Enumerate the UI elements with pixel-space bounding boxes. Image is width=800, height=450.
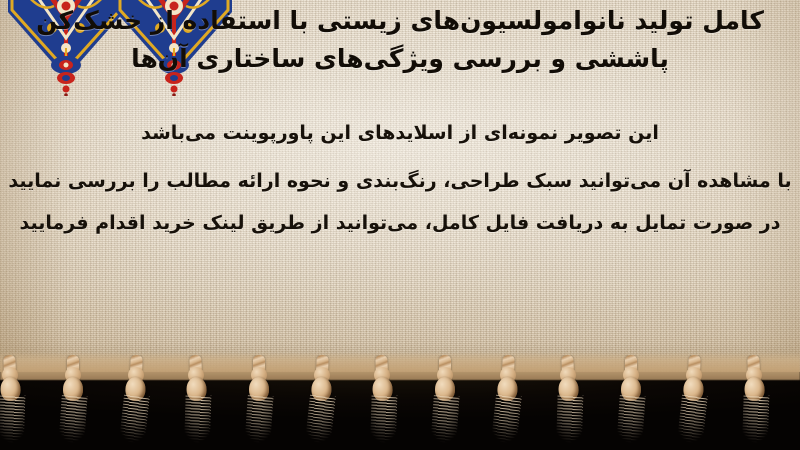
title-line-2: پاششی و بررسی ویژگی‌های ساختاری آن‌ها <box>0 40 800 78</box>
fringe-tassel <box>674 355 712 448</box>
fringe-tassel <box>242 355 276 447</box>
fringe-tassel <box>116 355 154 448</box>
tassel-strands <box>244 394 273 446</box>
slide-text-layer: کامل تولید نانوامولسیون‌های زیستی با است… <box>0 0 800 380</box>
tassel-strands <box>616 394 645 446</box>
title-line-1: کامل تولید نانوامولسیون‌های زیستی با است… <box>0 2 800 40</box>
tassel-strands <box>119 394 150 447</box>
fringe-tassel <box>56 355 90 447</box>
tassel-strands <box>0 395 26 446</box>
tassel-strands <box>184 395 212 446</box>
body-line-1: این تصویر نمونه‌ای از اسلایدهای این پاور… <box>0 112 800 154</box>
body-line-3: در صورت تمایل به دریافت فایل کامل، می‌تو… <box>0 202 800 244</box>
tassel-strands <box>430 394 459 446</box>
tassel-strands <box>742 395 770 446</box>
fringe-tassel <box>614 355 648 447</box>
fringe-tassel <box>364 355 402 448</box>
tassel-strands <box>677 394 708 447</box>
fringe-tassel <box>0 355 30 448</box>
tassel-strands <box>556 395 584 446</box>
body-text: این تصویر نمونه‌ای از اسلایدهای این پاور… <box>0 112 800 244</box>
fringe-tassel <box>550 355 588 448</box>
tassel-strands <box>305 394 336 447</box>
carpet-fringe <box>0 355 800 450</box>
tassel-strands <box>370 395 398 446</box>
body-line-2: با مشاهده آن می‌توانید سبک طراحی، رنگ‌بن… <box>0 160 800 202</box>
fringe-tassel <box>428 355 462 447</box>
page-title: کامل تولید نانوامولسیون‌های زیستی با است… <box>0 2 800 78</box>
fringe-tassel <box>178 355 216 448</box>
tassel-strands <box>491 394 522 447</box>
fringe-tassel <box>736 355 774 448</box>
slide-canvas: کامل تولید نانوامولسیون‌های زیستی با است… <box>0 0 800 450</box>
tassel-strands <box>58 394 87 446</box>
fringe-tassel <box>302 355 340 448</box>
fringe-tassel <box>488 355 526 448</box>
